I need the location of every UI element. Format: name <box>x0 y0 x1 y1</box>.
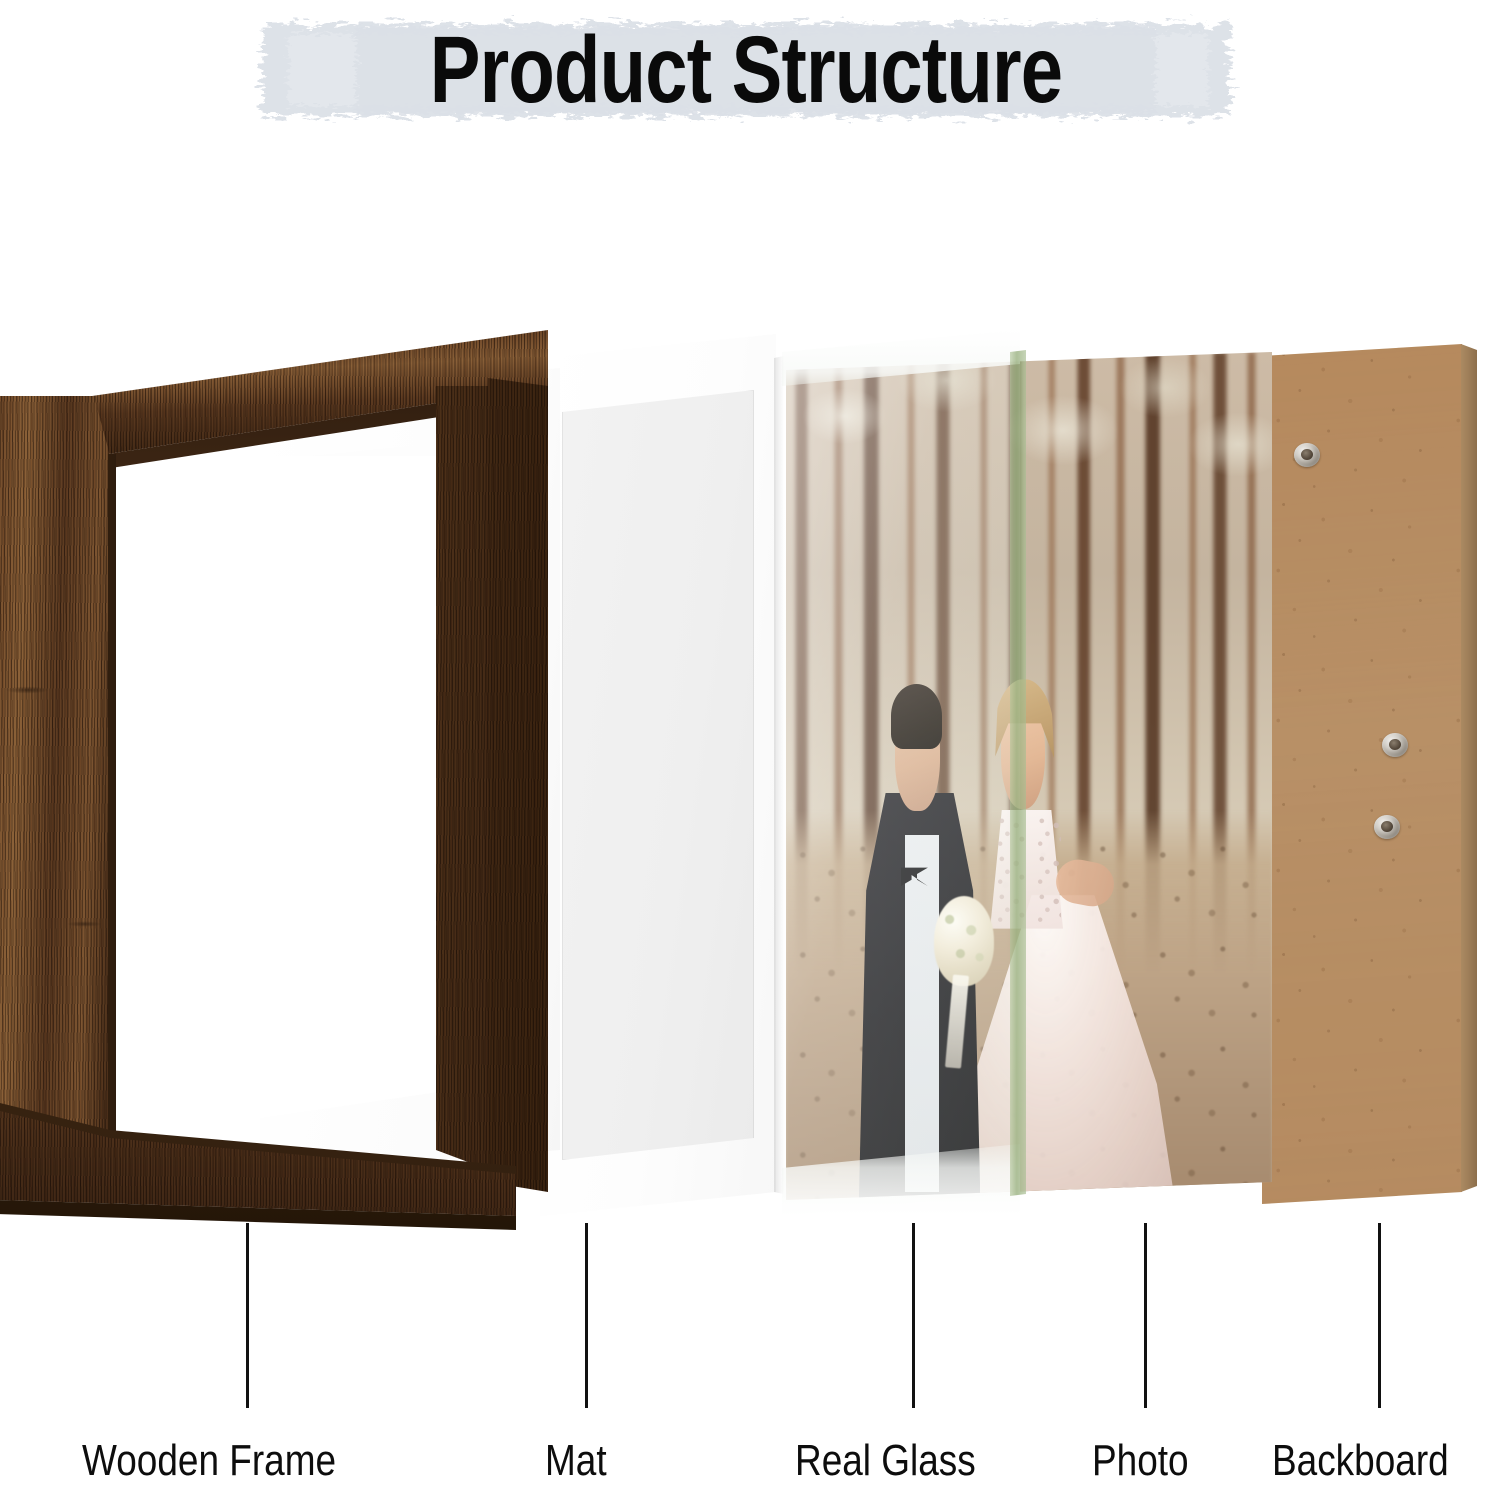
layer-backboard <box>1262 344 1478 1204</box>
photo-groom-hair <box>891 684 943 748</box>
backboard-grommet-icon <box>1294 443 1320 467</box>
backboard-fiber-texture <box>1262 344 1478 1204</box>
leader-line-backboard <box>1378 1223 1381 1408</box>
frame-window <box>112 456 438 1140</box>
caption-backboard: Backboard <box>1272 1436 1449 1486</box>
leader-line-wooden-frame <box>246 1223 249 1408</box>
caption-real-glass: Real Glass <box>795 1436 976 1486</box>
leader-line-mat <box>585 1223 588 1408</box>
photo-canopy-light <box>786 352 1272 708</box>
frame-left-rail <box>0 330 126 1230</box>
backboard-edge <box>1461 344 1477 1204</box>
layer-mat <box>540 334 792 1216</box>
leader-line-photo <box>1144 1223 1147 1408</box>
mat-opening <box>562 390 754 1160</box>
layer-photo <box>786 352 1272 1200</box>
backboard-grommet-icon <box>1382 733 1408 757</box>
photo-groom-shirt <box>905 835 939 1191</box>
layer-wooden-frame <box>0 330 556 1230</box>
exploded-view-diagram: Wooden Frame Mat Real Glass Photo Backbo… <box>0 0 1492 1500</box>
caption-mat: Mat <box>545 1436 607 1486</box>
mat-drop-shadow <box>774 334 784 1216</box>
backboard-grommet-icon <box>1374 815 1400 839</box>
caption-wooden-frame: Wooden Frame <box>82 1436 336 1486</box>
leader-line-real-glass <box>912 1223 915 1408</box>
photo-bouquet <box>934 896 994 986</box>
caption-photo: Photo <box>1092 1436 1189 1486</box>
photo-bride-lace <box>993 814 1061 924</box>
